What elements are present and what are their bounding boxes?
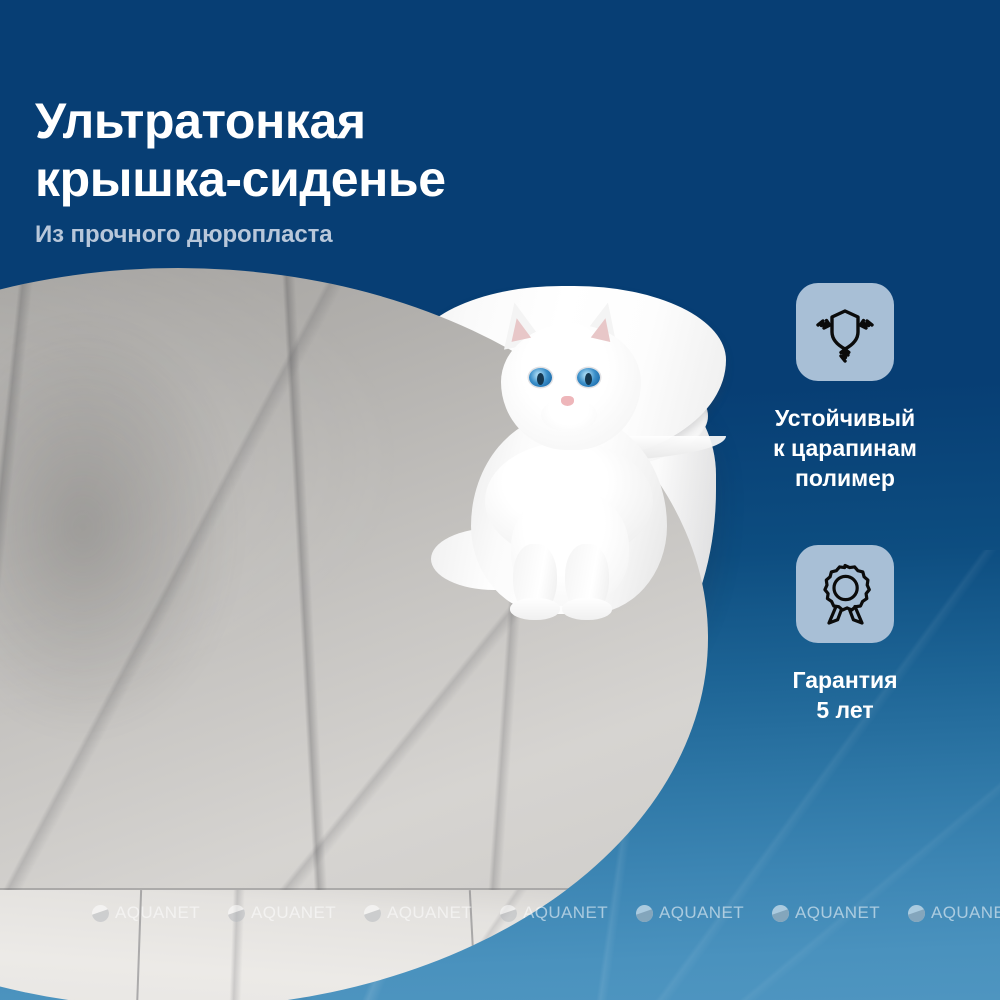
watermark-text: AQUANET [931, 903, 1000, 923]
circle-wave-icon [364, 905, 381, 922]
floor-wall-joint [0, 888, 708, 890]
award-rosette-icon [813, 561, 877, 627]
feature-item-warranty: Гарантия 5 лет [792, 545, 897, 725]
feature-icon-tile [796, 545, 894, 643]
circle-wave-icon [500, 905, 517, 922]
watermark: AQUANET [908, 903, 1000, 923]
circle-wave-icon [92, 905, 109, 922]
watermark-text: AQUANET [251, 903, 336, 923]
circle-wave-icon [772, 905, 789, 922]
headline-block: Ультратонкая крышка-сиденье Из прочного … [35, 92, 675, 249]
watermark-text: AQUANET [523, 903, 608, 923]
feature-item-scratch-resistant: Устойчивый к царапинам полимер [773, 283, 917, 493]
watermark-text: AQUANET [387, 903, 472, 923]
cat-paw [510, 598, 560, 620]
cat-inner-ear [507, 316, 531, 342]
watermark: AQUANET [92, 903, 228, 923]
feature-list: Устойчивый к царапинам полимер Гарантия … [690, 283, 1000, 725]
cat-pupil [585, 373, 592, 385]
watermark: AQUANET [500, 903, 636, 923]
product-banner: Ультратонкая крышка-сиденье Из прочного … [0, 0, 1000, 1000]
watermark-text: AQUANET [659, 903, 744, 923]
watermark-strip: AQUANETAQUANETAQUANETAQUANETAQUANETAQUAN… [0, 896, 1000, 930]
circle-wave-icon [908, 905, 925, 922]
feature-label: Устойчивый к царапинам полимер [773, 403, 917, 493]
page-title: Ультратонкая крышка-сиденье [35, 92, 675, 208]
cat-pupil [537, 373, 544, 385]
feature-label: Гарантия 5 лет [792, 665, 897, 725]
watermark-text: AQUANET [795, 903, 880, 923]
wall-shadow [0, 312, 242, 741]
cat-nose [561, 396, 574, 406]
feature-icon-tile [796, 283, 894, 381]
white-cat [437, 292, 697, 622]
page-subtitle: Из прочного дюропласта [35, 221, 675, 249]
watermark: AQUANET [364, 903, 500, 923]
watermark: AQUANET [772, 903, 908, 923]
watermark: AQUANET [228, 903, 364, 923]
watermark-text: AQUANET [115, 903, 200, 923]
watermark: AQUANET [636, 903, 772, 923]
circle-wave-icon [228, 905, 245, 922]
shield-scratch-resistant-icon [812, 299, 878, 365]
cat-paw [562, 598, 612, 620]
circle-wave-icon [636, 905, 653, 922]
